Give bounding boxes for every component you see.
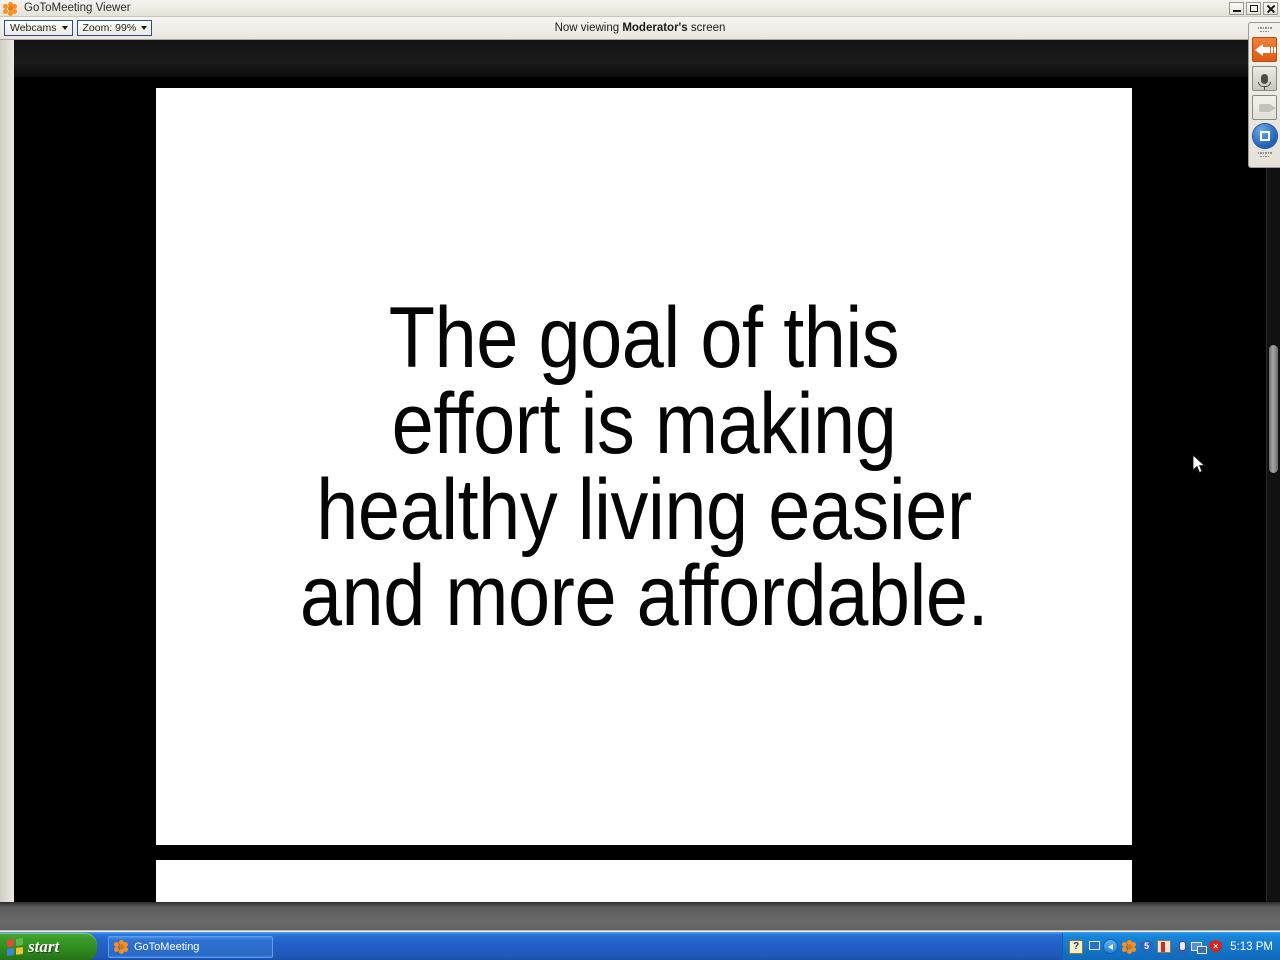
collapse-panel-button[interactable] (1252, 37, 1277, 62)
chevron-down-icon (141, 26, 147, 30)
shared-screen-viewer[interactable]: The goal of this effort is making health… (0, 40, 1280, 902)
arrow-tail-icon (1262, 47, 1270, 53)
clock[interactable]: 5:13 PM (1230, 941, 1273, 953)
gotomeeting-viewer-window: GoToMeeting Viewer Webcams Zoom: 99% Now… (0, 0, 1280, 960)
start-button-label: start (28, 937, 59, 957)
webcams-dropdown[interactable]: Webcams (4, 20, 73, 36)
viewer-toolbar: Webcams Zoom: 99% Now viewing Moderator'… (0, 17, 1280, 40)
mouse-pointer (1193, 455, 1207, 475)
window-title-bar: GoToMeeting Viewer (0, 0, 1280, 17)
taskbar-item-gotomeeting[interactable]: GoToMeeting (108, 936, 273, 958)
chevron-down-icon (62, 26, 68, 30)
show-desktop-icon[interactable] (1087, 941, 1099, 953)
slide-text: The goal of this effort is making health… (296, 295, 991, 639)
microphone-icon (1261, 74, 1268, 84)
close-button[interactable] (1263, 2, 1278, 15)
viewer-left-band (0, 40, 14, 902)
taskbar-item-label: GoToMeeting (134, 941, 199, 953)
maximize-button[interactable] (1246, 2, 1261, 15)
screen-sharing-button[interactable] (1253, 124, 1277, 148)
window-title: GoToMeeting Viewer (24, 1, 131, 16)
webcams-label: Webcams (10, 21, 57, 35)
now-viewing-prefix: Now viewing (555, 22, 623, 34)
presentation-slide: The goal of this effort is making health… (156, 88, 1132, 845)
shield-blue-5-icon[interactable] (1140, 940, 1153, 954)
gotomeeting-flower-icon[interactable] (1122, 940, 1136, 954)
vertical-scrollbar-thumb[interactable] (1269, 345, 1278, 473)
zoom-label: Zoom: 99% (83, 21, 137, 35)
now-viewing-status: Now viewing Moderator's screen (0, 22, 1280, 34)
citrix-bar: CITRIX® (0, 902, 1280, 930)
viewer-top-band (0, 40, 1280, 77)
grip-dots-icon[interactable] (1257, 27, 1273, 33)
security-alert-icon[interactable] (1209, 940, 1222, 954)
gotomeeting-control-panel (1248, 22, 1280, 168)
minimize-button[interactable] (1229, 2, 1244, 15)
windows-taskbar: start GoToMeeting ? 5:13 (0, 932, 1280, 960)
zoom-dropdown[interactable]: Zoom: 99% (77, 20, 153, 36)
start-button[interactable]: start (0, 933, 97, 960)
system-tray: ? 5:13 PM (1062, 933, 1280, 960)
webcam-button[interactable] (1252, 95, 1277, 120)
blue-square-icon (1260, 131, 1270, 141)
windows-flag-icon (7, 938, 23, 956)
show-hidden-icons-chevron[interactable] (1103, 939, 1118, 954)
gotomeeting-flower-icon (3, 1, 21, 16)
camera-icon (1259, 104, 1271, 112)
gotomeeting-flower-icon (114, 940, 128, 954)
presentation-slide-next-partial (156, 860, 1132, 902)
now-viewing-subject: Moderator's (622, 22, 687, 34)
microphone-icon[interactable] (1175, 940, 1187, 954)
help-icon[interactable]: ? (1069, 940, 1083, 954)
grip-dots-icon[interactable] (1257, 152, 1273, 158)
now-viewing-suffix: screen (688, 22, 726, 34)
arrow-bars-icon (1271, 47, 1276, 53)
address-book-icon[interactable] (1157, 940, 1171, 953)
network-icon[interactable] (1191, 940, 1205, 953)
microphone-button[interactable] (1252, 66, 1277, 91)
vertical-scrollbar[interactable] (1266, 40, 1280, 902)
window-controls (1229, 2, 1278, 15)
